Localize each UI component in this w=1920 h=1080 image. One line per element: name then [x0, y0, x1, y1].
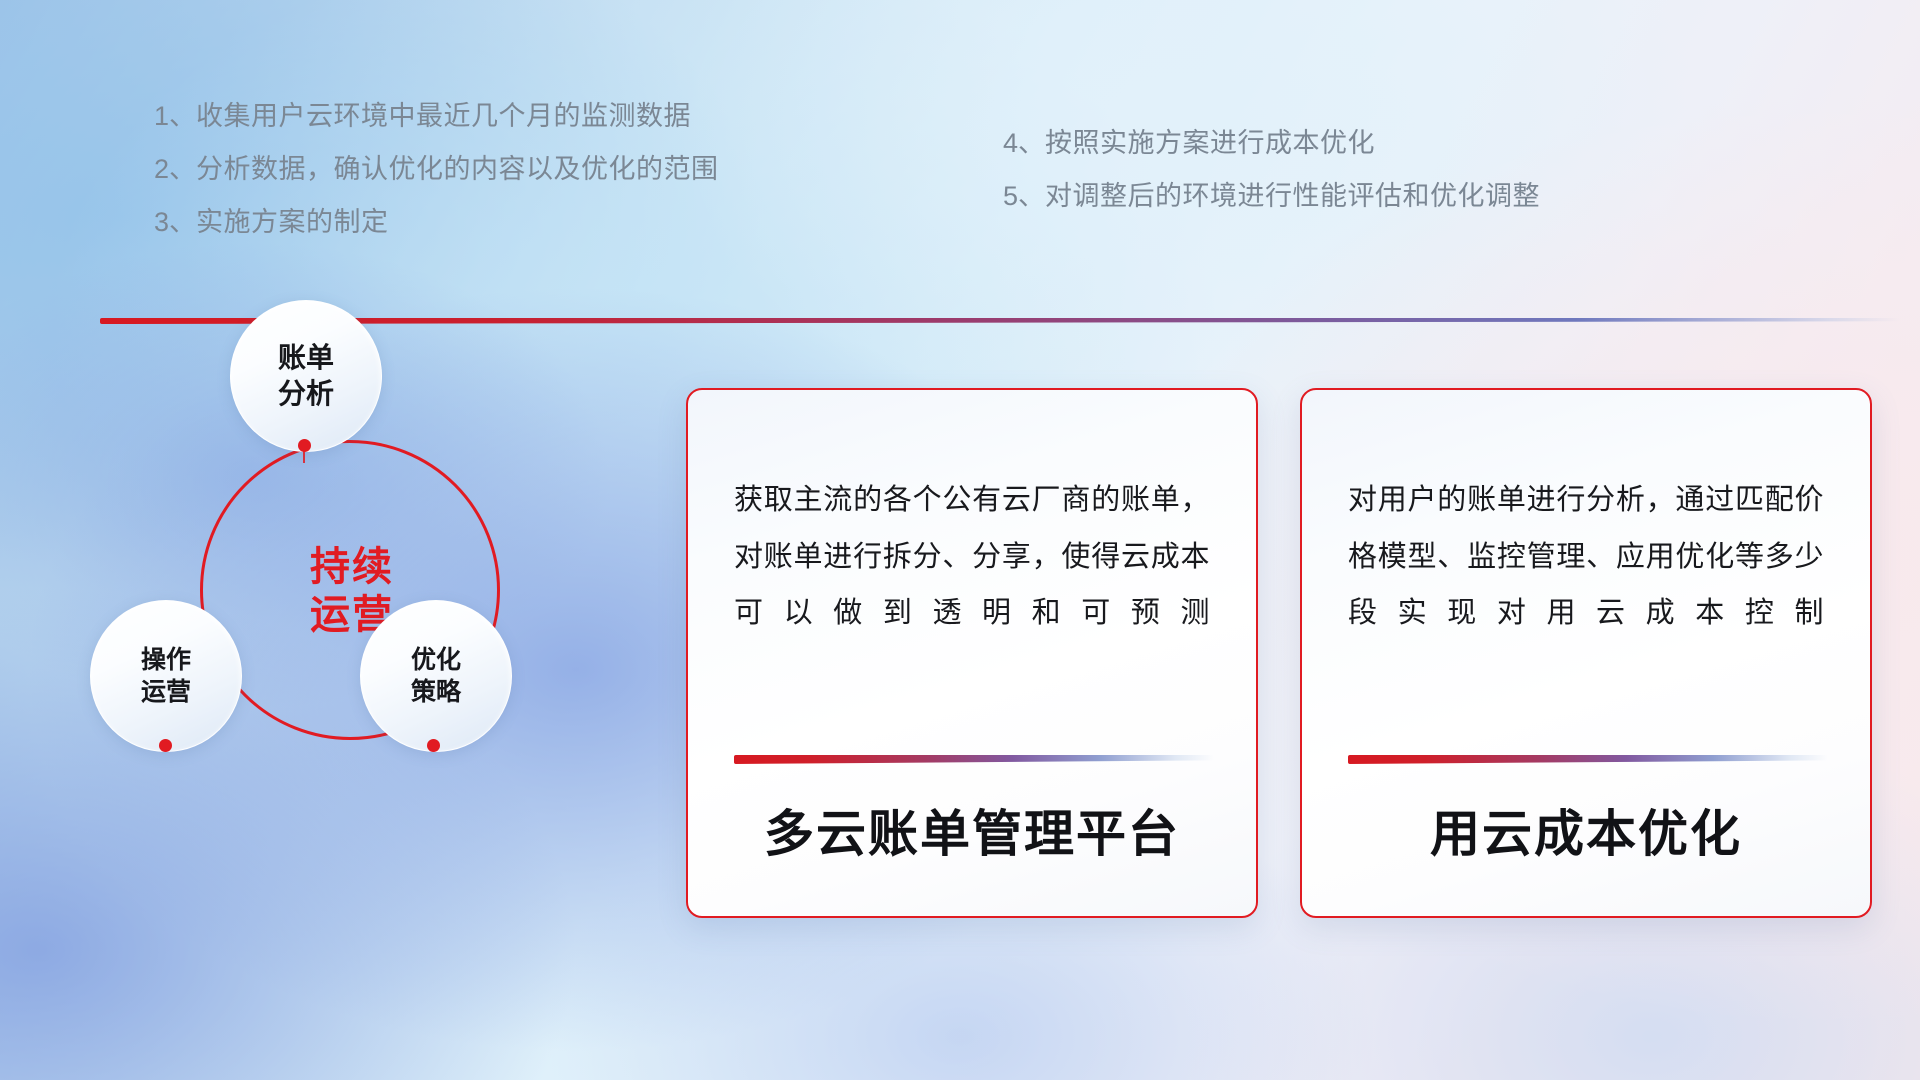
- card-multicloud-billing-platform[interactable]: 获取主流的各个公有云厂商的账单，对账单进行拆分、分享，使得云成本可以做到透明和可…: [686, 388, 1258, 918]
- card-2-title: 用云成本优化: [1302, 794, 1870, 866]
- card-cloud-cost-optimization[interactable]: 对用户的账单进行分析，通过匹配价格模型、监控管理、应用优化等多少段实现对用云成本…: [1300, 388, 1872, 918]
- card-1-accent-rule: [734, 755, 1214, 764]
- step-text-3: 实施方案的制定: [196, 207, 389, 237]
- step-item-2: 2、分析数据，确认优化的内容以及优化的范围: [154, 156, 719, 183]
- bubble-operations-line-1: 操作: [141, 644, 191, 677]
- step-text-4: 按照实施方案进行成本优化: [1045, 128, 1375, 158]
- steps-list: 1、收集用户云环境中最近几个月的监测数据 2、分析数据，确认优化的内容以及优化的…: [0, 0, 1920, 260]
- bubble-optimization-strategy-line-2: 策略: [411, 676, 461, 709]
- bubble-optimization-strategy-line-1: 优化: [411, 644, 461, 677]
- step-number-3: 3、: [154, 207, 196, 237]
- bubble-optimization-strategy[interactable]: 优化 策略: [360, 600, 512, 752]
- step-number-5: 5、: [1003, 181, 1045, 211]
- step-number-1: 1、: [154, 101, 196, 131]
- node-dot-right: [427, 739, 440, 752]
- bubble-bill-analysis[interactable]: 账单 分析: [230, 300, 382, 452]
- card-2-body-text: 对用户的账单进行分析，通过匹配价格模型、监控管理、应用优化等多少段实现对用云成本…: [1348, 472, 1824, 642]
- step-item-1: 1、收集用户云环境中最近几个月的监测数据: [154, 103, 691, 130]
- bubble-operations[interactable]: 操作 运营: [90, 600, 242, 752]
- step-text-2: 分析数据，确认优化的内容以及优化的范围: [196, 154, 719, 184]
- step-text-5: 对调整后的环境进行性能评估和优化调整: [1045, 181, 1540, 211]
- bubble-operations-line-2: 运营: [141, 676, 191, 709]
- step-item-3: 3、实施方案的制定: [154, 209, 389, 236]
- node-dot-left: [159, 739, 172, 752]
- center-label-line-1: 持续: [310, 543, 394, 591]
- node-dot-top: [298, 439, 311, 452]
- step-number-4: 4、: [1003, 128, 1045, 158]
- step-item-5: 5、对调整后的环境进行性能评估和优化调整: [1003, 183, 1540, 210]
- bubble-bill-analysis-line-2: 分析: [278, 376, 334, 412]
- step-text-1: 收集用户云环境中最近几个月的监测数据: [196, 101, 691, 131]
- card-2-accent-rule: [1348, 755, 1828, 764]
- step-number-2: 2、: [154, 154, 196, 184]
- step-item-4: 4、按照实施方案进行成本优化: [1003, 130, 1375, 157]
- card-1-title: 多云账单管理平台: [688, 794, 1256, 866]
- bubble-bill-analysis-line-1: 账单: [278, 340, 334, 376]
- continuous-operations-diagram: 持续 运营 账单 分析 操作 运营 优化 策略: [95, 355, 565, 915]
- card-1-body-text: 获取主流的各个公有云厂商的账单，对账单进行拆分、分享，使得云成本可以做到透明和可…: [734, 472, 1210, 642]
